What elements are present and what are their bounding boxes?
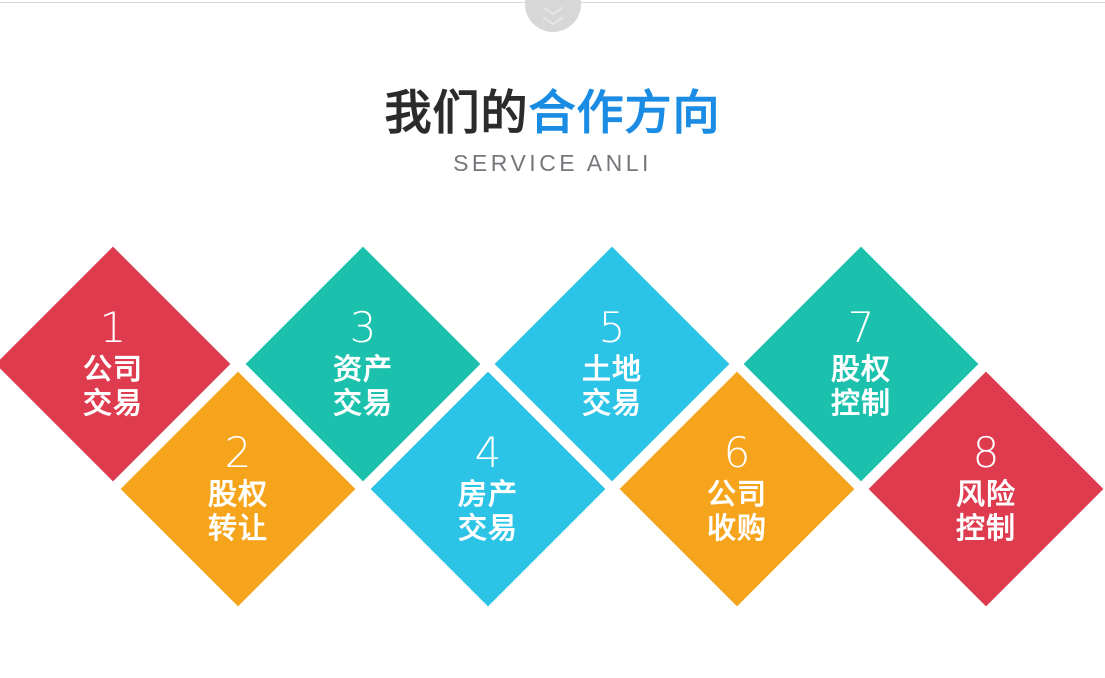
diamond-label-line1: 土地 [582, 353, 642, 387]
diamond-number: 2 [224, 431, 251, 473]
diamond-label-line1: 房产 [457, 477, 517, 511]
diamond-label-line2: 转让 [207, 512, 267, 546]
diamond-label-line2: 交易 [582, 387, 642, 421]
diamond-label-line2: 控制 [831, 387, 891, 421]
diamond-label-line2: 交易 [333, 387, 393, 421]
diamond-label-line1: 股权 [207, 477, 267, 511]
diamond-number: 3 [350, 307, 377, 349]
diamond-label-line1: 股权 [831, 353, 891, 387]
diamond-label-line1: 资产 [333, 353, 393, 387]
diamond-number: 6 [723, 431, 750, 473]
diamond-label-line1: 公司 [706, 477, 766, 511]
diamond-label-line2: 收购 [706, 512, 766, 546]
diamond-number: 7 [848, 307, 875, 349]
diamond-label-line1: 公司 [83, 353, 143, 387]
diamond-grid: 1 公司 交易 2 股权 转让 3 资产 交易 4 房产 交易 5 土地 交易 [0, 0, 1105, 678]
diamond-number: 4 [474, 431, 501, 473]
diamond-number: 5 [599, 307, 626, 349]
diamond-label-line2: 交易 [83, 387, 143, 421]
diamond-label-line2: 交易 [457, 512, 517, 546]
diamond-label-line1: 风险 [955, 477, 1015, 511]
diamond-card-8[interactable]: 8 风险 控制 [868, 371, 1103, 606]
diamond-number: 1 [100, 307, 127, 349]
diamond-label-line2: 控制 [955, 512, 1015, 546]
diamond-number: 8 [972, 431, 999, 473]
